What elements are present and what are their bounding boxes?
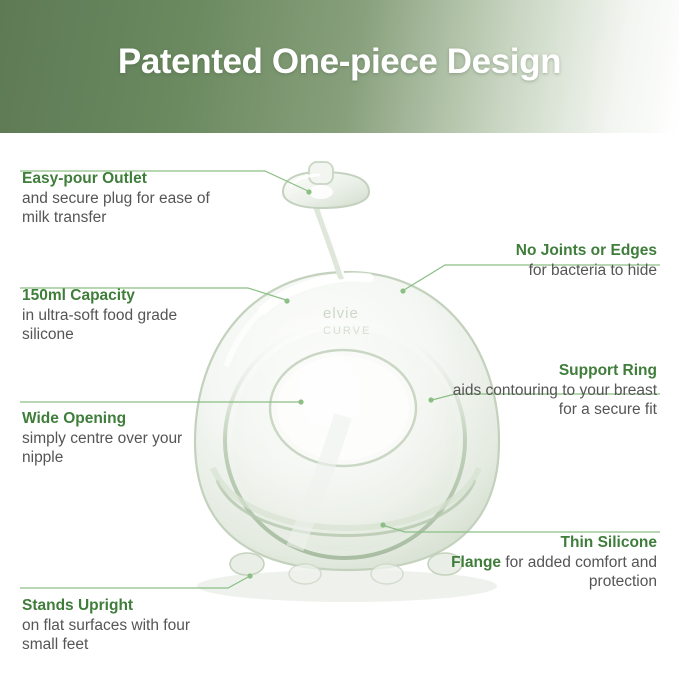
callout-title: Thin Silicone (561, 534, 657, 551)
callout-body: simply centre over your nipple (22, 430, 182, 467)
svg-text:CURVE: CURVE (323, 325, 371, 337)
callout-no-joints: No Joints or Edges for bacteria to hide (427, 241, 657, 280)
callout-easy-pour-outlet: Easy-pour Outlet and secure plug for eas… (22, 169, 232, 228)
callout-title: Wide Opening (22, 410, 126, 427)
callout-title: Support Ring (559, 362, 657, 379)
callout-thin-silicone-flange: Thin Silicone Flange for added comfort a… (437, 533, 657, 592)
callout-wide-opening: Wide Opening simply centre over your nip… (22, 409, 192, 468)
callout-capacity: 150ml Capacity in ultra-soft food grade … (22, 286, 202, 345)
callout-title: Stands Upright (22, 597, 133, 614)
callout-title-second-line: Flange (451, 554, 501, 571)
header-banner: Patented One-piece Design (0, 0, 679, 133)
callout-title: Easy-pour Outlet (22, 170, 147, 187)
callout-body: for bacteria to hide (529, 262, 657, 279)
page-title: Patented One-piece Design (0, 42, 679, 82)
callout-body: on flat surfaces with four small feet (22, 617, 190, 654)
infographic-page: Patented One-piece Design (0, 0, 679, 679)
svg-text:elvie: elvie (323, 305, 359, 322)
callout-body: for added comfort and protection (505, 554, 657, 591)
callout-body: and secure plug for ease of milk transfe… (22, 190, 210, 227)
callout-body: aids contouring to your breast for a sec… (453, 382, 657, 419)
callout-stands-upright: Stands Upright on flat surfaces with fou… (22, 596, 222, 655)
callout-support-ring: Support Ring aids contouring to your bre… (437, 361, 657, 420)
callout-title: No Joints or Edges (516, 242, 657, 259)
callout-title: 150ml Capacity (22, 287, 135, 304)
callout-body: in ultra-soft food grade silicone (22, 307, 177, 344)
